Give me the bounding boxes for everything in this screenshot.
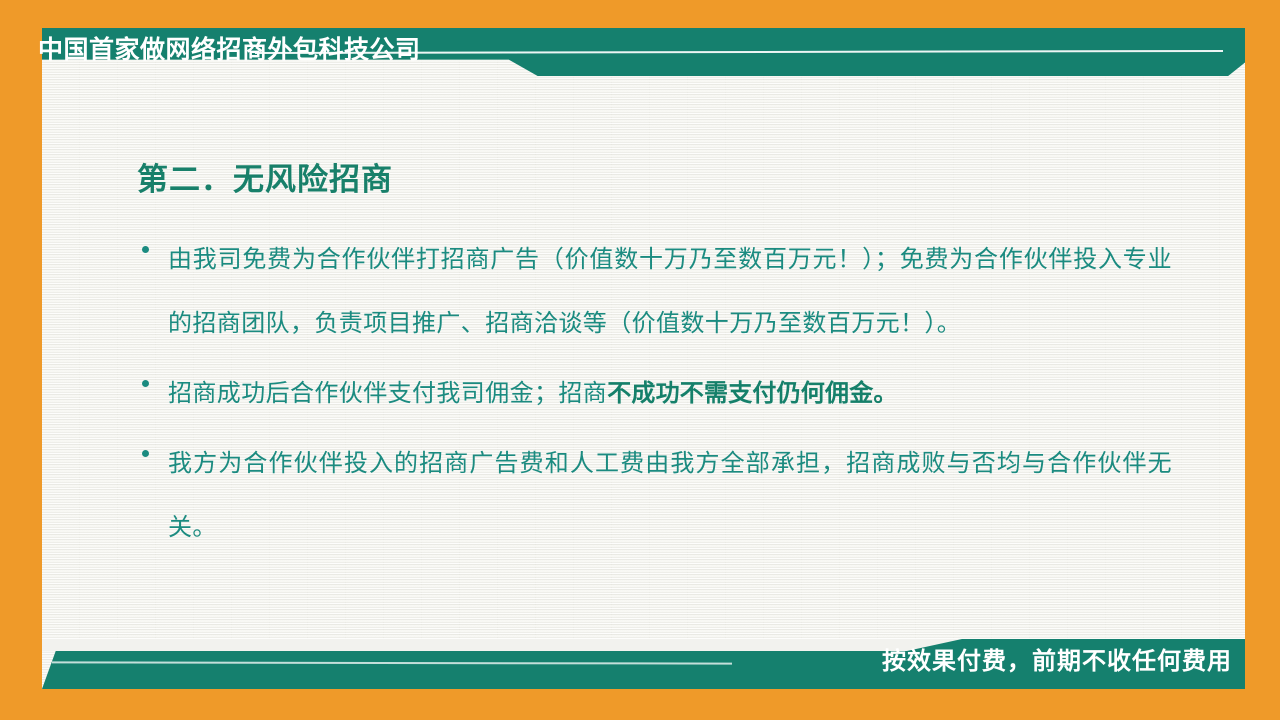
bullet-text-3: 我方为合作伙伴投入的招商广告费和人工费由我方全部承担，招商成败与否均与合作伙伴无… [168, 432, 1172, 560]
header-company-title: 中国首家做网络招商外包科技公司 [38, 38, 421, 63]
bullet-segment: 我方为合作伙伴投入的招商广告费和人工费由我方全部承担，招商成败与否均与合作伙伴无… [168, 451, 1172, 541]
slide-heading: 第二．无风险招商 [137, 161, 393, 200]
presentation-slide: 中国首家做网络招商外包科技公司 第二．无风险招商 由我司免费为合作伙伴打招商广告… [0, 0, 1280, 720]
footer-tagline: 按效果付费，前期不收任何费用 [882, 648, 1232, 677]
bullet-dot-icon [142, 362, 168, 387]
list-item: 由我司免费为合作伙伴打招商广告（价值数十万乃至数百万元！）；免费为合作伙伴投入专… [142, 228, 1172, 356]
footer-notch-shape [42, 639, 962, 651]
list-item: 招商成功后合作伙伴支付我司佣金；招商不成功不需支付仍何佣金。 [142, 362, 1172, 426]
bullet-segment-emphasis: 不成功不需支付仍何佣金。 [607, 380, 897, 407]
bullet-dot-icon [142, 432, 168, 457]
bullet-list: 由我司免费为合作伙伴打招商广告（价值数十万乃至数百万元！）；免费为合作伙伴投入专… [142, 228, 1172, 566]
bullet-text-1: 由我司免费为合作伙伴打招商广告（价值数十万乃至数百万元！）；免费为合作伙伴投入专… [168, 228, 1172, 356]
bullet-segment: 招商成功后合作伙伴支付我司佣金；招商 [168, 381, 607, 407]
bullet-text-2: 招商成功后合作伙伴支付我司佣金；招商不成功不需支付仍何佣金。 [168, 362, 1172, 426]
list-item: 我方为合作伙伴投入的招商广告费和人工费由我方全部承担，招商成败与否均与合作伙伴无… [142, 432, 1172, 560]
bullet-dot-icon [142, 228, 168, 253]
bullet-segment: 由我司免费为合作伙伴打招商广告（价值数十万乃至数百万元！）；免费为合作伙伴投入专… [168, 247, 1172, 337]
